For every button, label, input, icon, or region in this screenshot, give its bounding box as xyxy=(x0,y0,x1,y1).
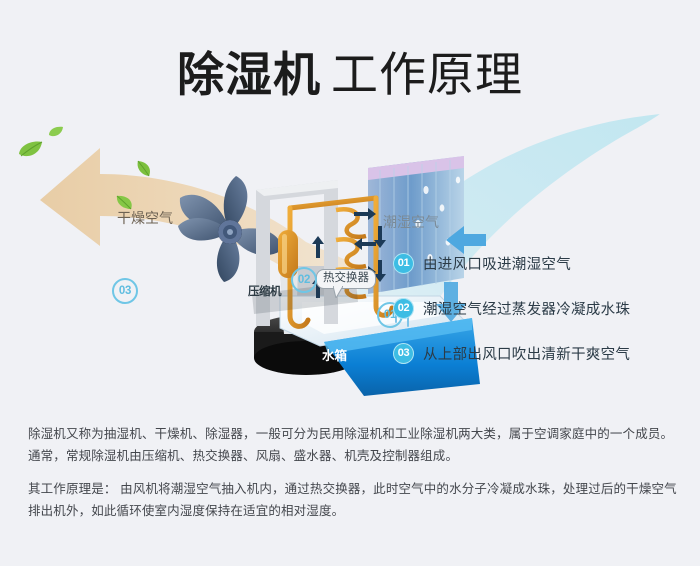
description-paragraph-1: 除湿机又称为抽湿机、干燥机、除湿器，一般可分为民用除湿机和工业除湿机两大类，属于… xyxy=(28,423,678,467)
step-item: 02 潮湿空气经过蒸发器冷凝成水珠 xyxy=(393,297,693,319)
leaf-icon xyxy=(18,140,44,160)
dry-air-label: 干燥空气 xyxy=(117,208,173,228)
step-badge: 03 xyxy=(393,343,414,364)
steps-list: 01 由进风口吸进潮湿空气 02 潮湿空气经过蒸发器冷凝成水珠 03 从上部出风… xyxy=(393,252,693,387)
heat-exchanger-callout: 热交换器 xyxy=(316,269,376,289)
step-text: 从上部出风口吹出清新干爽空气 xyxy=(423,343,630,364)
humid-air-label: 潮湿空气 xyxy=(383,212,439,232)
compressor-label: 压缩机 xyxy=(248,283,281,299)
step-badge: 02 xyxy=(393,298,414,319)
description-paragraph-2: 其工作原理是： 由风机将潮湿空气抽入机内，通过热交换器，此时空气中的水分子冷凝成… xyxy=(28,478,678,522)
step-badge: 01 xyxy=(393,253,414,274)
leaf-icon xyxy=(136,160,152,177)
water-tank-label: 水箱 xyxy=(322,345,347,364)
step-item: 01 由进风口吸进潮湿空气 xyxy=(393,252,693,274)
step-text: 潮湿空气经过蒸发器冷凝成水珠 xyxy=(423,298,630,319)
callout-tail-icon xyxy=(333,286,343,298)
leaf-icon xyxy=(48,126,64,139)
diagram-badge-02-text: 02 xyxy=(298,274,310,286)
page-title-bold: 除湿机 xyxy=(177,48,321,101)
step-text: 由进风口吸进潮湿空气 xyxy=(423,253,571,274)
dehumidifier-infographic: 除湿机工作原理 xyxy=(0,0,700,566)
page-title: 除湿机工作原理 xyxy=(0,36,700,105)
diagram-badge-03-text: 03 xyxy=(119,285,131,297)
step-item: 03 从上部出风口吹出清新干爽空气 xyxy=(393,342,693,364)
heat-exchanger-label: 热交换器 xyxy=(323,272,369,284)
diagram-badge-03: 03 xyxy=(112,278,138,304)
page-title-light: 工作原理 xyxy=(331,48,523,101)
diagram-badge-02: 02 xyxy=(291,267,317,293)
